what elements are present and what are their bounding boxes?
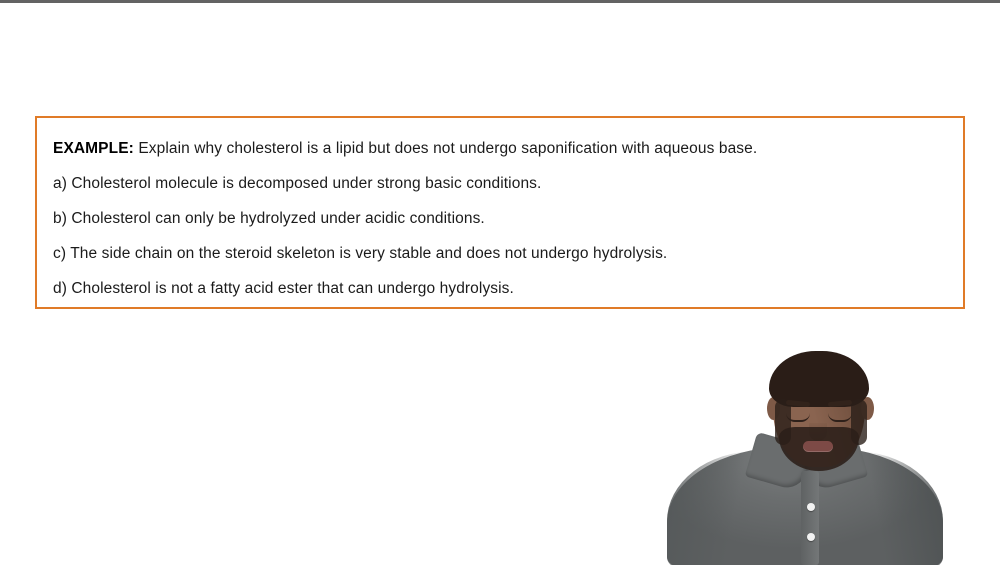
instructor-mouth — [803, 441, 833, 452]
instructor-torso-shadow-right — [853, 451, 943, 565]
example-problem-box: EXAMPLE: Explain why cholesterol is a li… — [35, 116, 965, 309]
instructor-shirt-button-bottom — [807, 533, 815, 541]
instructor-video-cutout — [655, 343, 945, 565]
example-label: EXAMPLE: — [53, 140, 134, 157]
instructor-shirt-placket — [801, 471, 819, 565]
instructor-torso-shadow-left — [667, 451, 757, 565]
instructor-shirt-button-top — [807, 503, 815, 511]
example-question-line: EXAMPLE: Explain why cholesterol is a li… — [53, 131, 947, 166]
slide-canvas: EXAMPLE: Explain why cholesterol is a li… — [0, 3, 1000, 562]
example-question-text: Explain why cholesterol is a lipid but d… — [138, 140, 757, 157]
answer-choice-a[interactable]: a) Cholesterol molecule is decomposed un… — [53, 166, 947, 201]
answer-choice-b[interactable]: b) Cholesterol can only be hydrolyzed un… — [53, 201, 947, 236]
answer-choice-d[interactable]: d) Cholesterol is not a fatty acid ester… — [53, 271, 947, 306]
answer-choice-c[interactable]: c) The side chain on the steroid skeleto… — [53, 236, 947, 271]
